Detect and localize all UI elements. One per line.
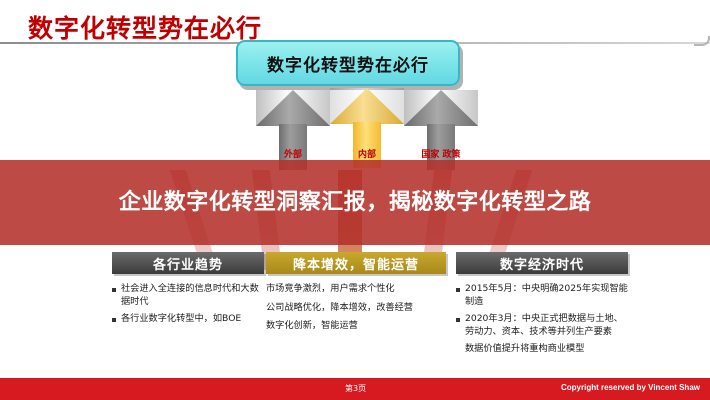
page-number: 第3页	[345, 383, 366, 394]
column-digital-economy: 数字经济时代 2015年5月：中央明确2025年实现智能制造 2020年3月：中…	[456, 252, 628, 361]
list-item-text: 数据价值提升将重构商业模型	[465, 343, 584, 356]
main-callout-box: 数字化转型势在必行	[236, 40, 460, 86]
list-item: 数据价值提升将重构商业模型	[456, 343, 628, 356]
list-item: 社会进入全连接的信息时代和大数据时代	[112, 283, 264, 308]
list-item: 2020年3月：中央正式把数据与土地、劳动力、资本、技术等并列生产要素	[456, 313, 628, 338]
column-title-cost-efficiency: 降本增效，智能运营	[266, 252, 446, 274]
list-item-text: 社会进入全连接的信息时代和大数据时代	[121, 283, 264, 308]
bullet-square-icon	[456, 318, 460, 322]
list-item-text: 公司战略优化，降本增效，改善经营	[266, 302, 413, 315]
column-title-industry-trends: 各行业趋势	[112, 252, 264, 274]
bullet-square-icon	[112, 318, 116, 322]
list-item-text: 数字化创新，智能运营	[266, 320, 358, 333]
list-item: 2015年5月：中央明确2025年实现智能制造	[456, 283, 628, 308]
overlay-banner-text: 企业数字化转型洞察汇报，揭秘数字化转型之路	[45, 186, 665, 219]
overlay-banner: 企业数字化转型洞察汇报，揭秘数字化转型之路	[0, 160, 710, 245]
list-item: 各行业数字化转型中，如BOE	[112, 313, 264, 326]
column-title-digital-economy: 数字经济时代	[456, 252, 628, 274]
slide-title: 数字化转型势在必行	[28, 9, 262, 45]
content-columns: 各行业趋势 社会进入全连接的信息时代和大数据时代 各行业数字化转型中，如BOE …	[0, 252, 710, 377]
list-item: 数字化创新，智能运营	[266, 320, 446, 333]
slide-header: 数字化转型势在必行	[0, 0, 710, 44]
presentation-slide: 为何数字化 何为数字化 如何数字化 数字化的价值 数字化转型势在必行 数字化转型…	[0, 0, 710, 400]
bullet-square-icon	[456, 288, 460, 292]
list-item-text: 各行业数字化转型中，如BOE	[121, 313, 241, 326]
slide-footer: 第3页 Copyright reserved by Vincent Shaw	[0, 378, 710, 400]
copyright-notice: Copyright reserved by Vincent Shaw	[561, 383, 700, 392]
bullet-square-icon	[112, 288, 116, 292]
list-item-text: 2015年5月：中央明确2025年实现智能制造	[465, 283, 628, 308]
column-cost-efficiency: 降本增效，智能运营 市场竞争激烈，用户需求个性化 公司战略优化，降本增效，改善经…	[266, 252, 446, 339]
list-item-text: 市场竞争激烈，用户需求个性化	[266, 283, 395, 296]
column-industry-trends: 各行业趋势 社会进入全连接的信息时代和大数据时代 各行业数字化转型中，如BOE	[112, 252, 264, 331]
list-item: 市场竞争激烈，用户需求个性化	[266, 283, 446, 296]
main-callout-text: 数字化转型势在必行	[267, 51, 429, 76]
list-item-text: 2020年3月：中央正式把数据与土地、劳动力、资本、技术等并列生产要素	[465, 313, 628, 338]
list-item: 公司战略优化，降本增效，改善经营	[266, 302, 446, 315]
